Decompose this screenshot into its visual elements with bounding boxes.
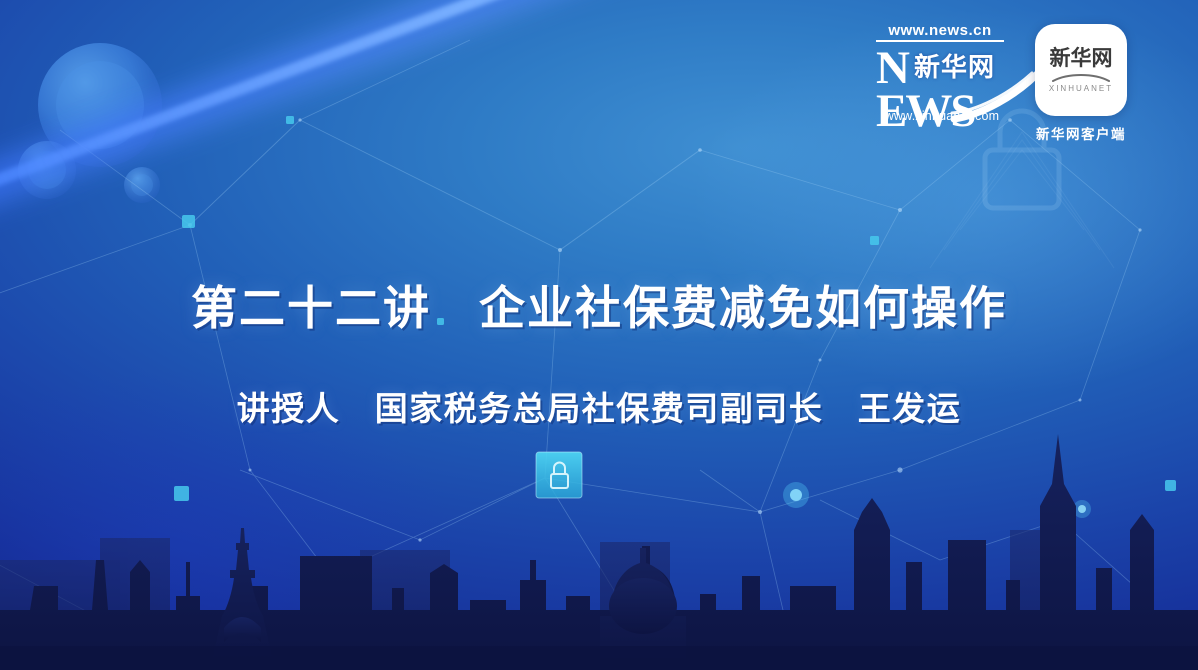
page-title: 第二十二讲 企业社保费减免如何操作 xyxy=(0,272,1198,338)
xinhua-wordmark: N EWS 新华网 xyxy=(876,45,1012,107)
arc-icon xyxy=(1052,73,1110,82)
title-card: www.news.cn N EWS 新华网 www.xinhuanet.com … xyxy=(0,0,1198,670)
app-badge[interactable]: 新华网 XINHUANET 新华网客户端 xyxy=(1031,24,1131,143)
page-subtitle: 讲授人 国家税务总局社保费司副司长 王发运 xyxy=(0,382,1198,430)
app-icon-pinyin: XINHUANET xyxy=(1049,84,1113,93)
app-icon-chinese: 新华网 xyxy=(1050,48,1113,69)
logo-url-top: www.news.cn xyxy=(876,22,1004,42)
app-icon[interactable]: 新华网 XINHUANET xyxy=(1035,24,1127,116)
app-badge-label: 新华网客户端 xyxy=(1031,123,1131,143)
header: www.news.cn N EWS 新华网 www.xinhuanet.com … xyxy=(0,0,1198,150)
xinhua-logo[interactable]: www.news.cn N EWS 新华网 www.xinhuanet.com xyxy=(876,22,1012,123)
title-group: 第二十二讲 企业社保费减免如何操作 讲授人 国家税务总局社保费司副司长 王发运 xyxy=(0,272,1198,430)
city-skyline-icon xyxy=(0,410,1198,670)
